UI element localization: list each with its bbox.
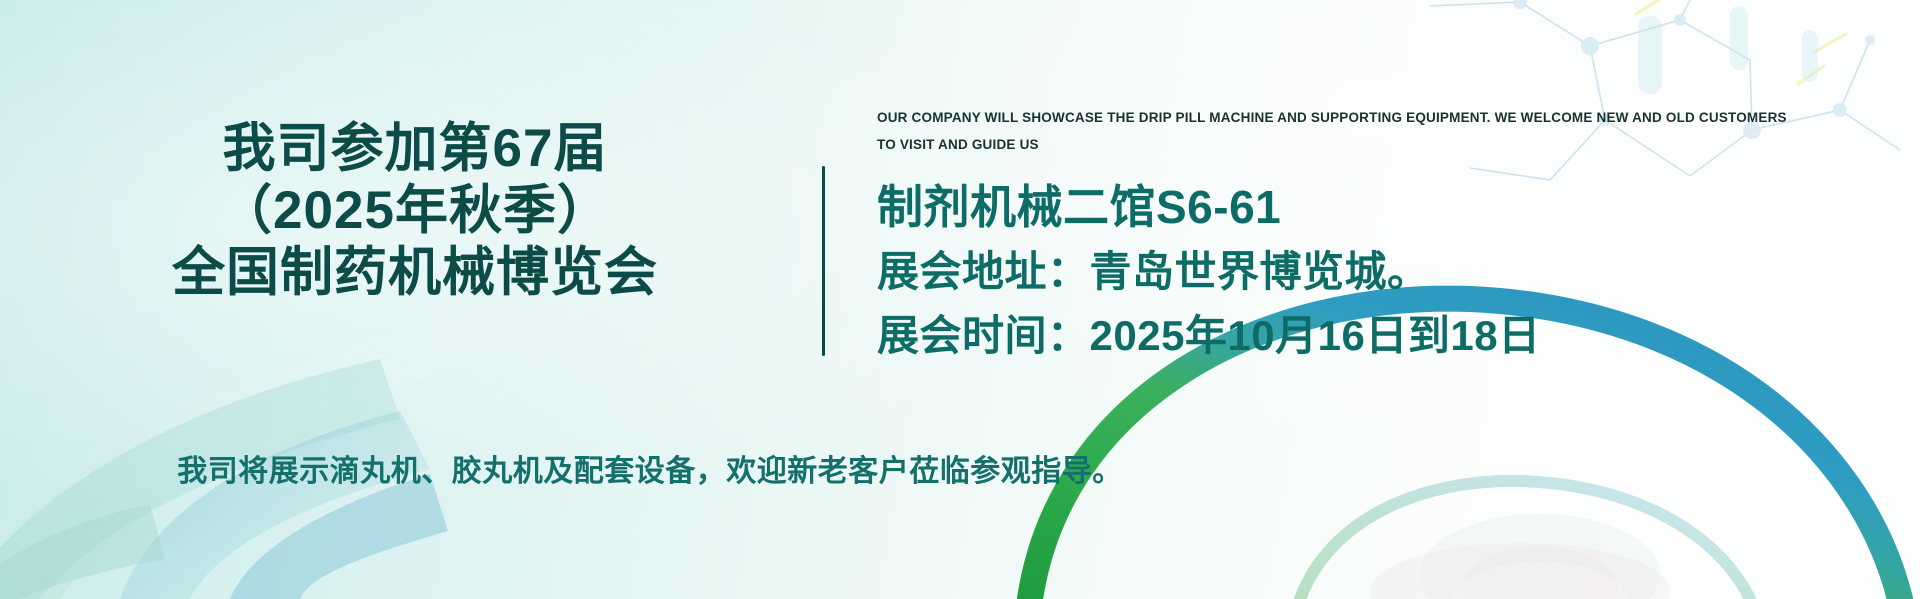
- abstract-fan-shapes-icon: [0, 299, 760, 599]
- left-heading-line-1: 我司参加第67届: [135, 118, 695, 180]
- left-heading-line-2: （2025年秋季）: [135, 180, 695, 242]
- english-subtitle: OUR COMPANY WILL SHOWCASE THE DRIP PILL …: [877, 104, 1789, 158]
- bottom-caption: 我司将展示滴丸机、胶丸机及配套设备，欢迎新老客户莅临参观指导。: [0, 452, 1300, 492]
- vertical-divider: [822, 166, 825, 356]
- booth-location: 制剂机械二馆S6-61: [877, 180, 1827, 234]
- venue-address: 展会地址：青岛世界博览城。: [877, 246, 1827, 298]
- soft-glow-shape-icon: [1390, 479, 1690, 599]
- event-dates: 展会时间：2025年10月16日到18日: [877, 310, 1827, 362]
- left-heading-block: 我司参加第67届 （2025年秋季） 全国制药机械博览会: [135, 118, 695, 304]
- exhibition-banner: 我司参加第67届 （2025年秋季） 全国制药机械博览会 OUR COMPANY…: [0, 0, 1920, 599]
- left-heading-line-3: 全国制药机械博览会: [135, 242, 695, 304]
- right-info-block: OUR COMPANY WILL SHOWCASE THE DRIP PILL …: [877, 104, 1827, 362]
